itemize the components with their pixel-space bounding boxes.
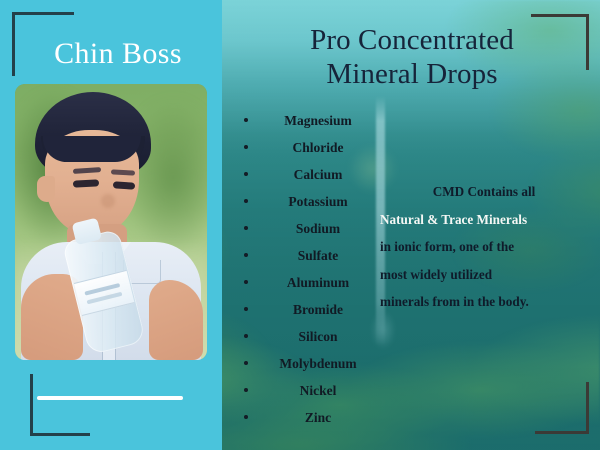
- bullet-icon: [244, 118, 248, 122]
- list-item-label: Sodium: [296, 221, 340, 236]
- blurb-line-2-highlight: Natural & Trace Minerals: [380, 206, 588, 234]
- bullet-icon: [244, 145, 248, 149]
- bracket-line-horizontal: [30, 433, 90, 436]
- bracket-line-horizontal: [12, 12, 74, 15]
- decorative-rule: [37, 396, 183, 400]
- list-item: Potassium: [238, 188, 384, 215]
- description-blurb: CMD Contains all Natural & Trace Mineral…: [380, 178, 588, 316]
- list-item-label: Zinc: [305, 410, 331, 425]
- bracket-line-horizontal: [531, 14, 589, 17]
- list-item-label: Magnesium: [284, 113, 352, 128]
- bullet-icon: [244, 415, 248, 419]
- bullet-icon: [244, 280, 248, 284]
- list-item-label: Molybdenum: [279, 356, 356, 371]
- list-item-label: Aluminum: [287, 275, 349, 290]
- bracket-line-vertical: [586, 382, 589, 434]
- mineral-list: Magnesium Chloride Calcium Potassium Sod…: [238, 107, 384, 431]
- list-item-label: Silicon: [298, 329, 337, 344]
- page-title-line-2: Mineral Drops: [238, 58, 586, 92]
- list-item: Sulfate: [238, 242, 384, 269]
- boy-nose: [101, 194, 115, 208]
- page-title: Pro Concentrated Mineral Drops: [238, 24, 586, 91]
- list-item: Aluminum: [238, 269, 384, 296]
- list-item: Silicon: [238, 323, 384, 350]
- list-item-label: Chloride: [292, 140, 343, 155]
- list-item-label: Bromide: [293, 302, 343, 317]
- boy-fringe: [43, 136, 141, 162]
- corner-bracket-bottom-left: [30, 374, 90, 436]
- blurb-line-4: most widely utilized: [380, 261, 588, 289]
- boy-ear: [37, 176, 55, 202]
- page-title-line-1: Pro Concentrated: [310, 24, 514, 56]
- bracket-line-horizontal: [535, 431, 589, 434]
- list-item: Bromide: [238, 296, 384, 323]
- list-item-label: Nickel: [300, 383, 337, 398]
- list-item: Chloride: [238, 134, 384, 161]
- boy-eye-right: [113, 181, 135, 190]
- blurb-line-5: minerals from in the body.: [380, 288, 588, 316]
- bracket-line-vertical: [586, 14, 589, 70]
- bullet-icon: [244, 307, 248, 311]
- blurb-line-1: CMD Contains all: [380, 178, 588, 206]
- boy-arm-right: [149, 280, 203, 360]
- brand-name: Chin Boss: [0, 37, 222, 70]
- bullet-icon: [244, 334, 248, 338]
- list-item-label: Calcium: [294, 167, 343, 182]
- list-item: Zinc: [238, 404, 384, 431]
- bullet-icon: [244, 361, 248, 365]
- water-bottle-label: [74, 270, 135, 316]
- blurb-line-3: in ionic form, one of the: [380, 233, 588, 261]
- list-item-label: Potassium: [288, 194, 347, 209]
- corner-bracket-bottom-right: [535, 382, 589, 434]
- bracket-line-vertical: [30, 374, 33, 436]
- boy-eye-left: [73, 179, 99, 187]
- bullet-icon: [244, 199, 248, 203]
- bullet-icon: [244, 253, 248, 257]
- bullet-icon: [244, 172, 248, 176]
- list-item: Calcium: [238, 161, 384, 188]
- list-item: Magnesium: [238, 107, 384, 134]
- product-photo: [15, 84, 207, 360]
- poster-canvas: Chin Boss Pro Concentrated Mineral Drops: [0, 0, 600, 450]
- list-item: Nickel: [238, 377, 384, 404]
- list-item: Molybdenum: [238, 350, 384, 377]
- bullet-icon: [244, 226, 248, 230]
- bullet-icon: [244, 388, 248, 392]
- list-item: Sodium: [238, 215, 384, 242]
- list-item-label: Sulfate: [298, 248, 339, 263]
